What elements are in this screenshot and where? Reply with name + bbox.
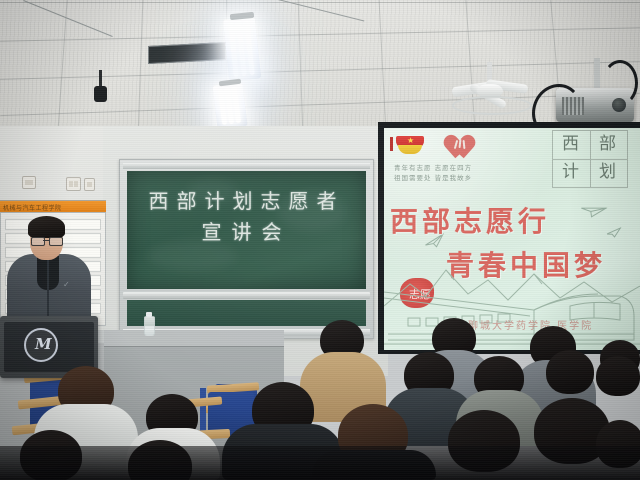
university-crest: M: [24, 328, 58, 362]
calligraphy-seal-box: 西 部 计 划: [552, 130, 628, 188]
blackboard: 西部计划志愿者 宣讲会: [119, 159, 374, 339]
projection-screen-bezel: ★ 青年有志愿 志愿在四方 祖国需要处 皆是我故乡 西 部 计: [378, 122, 640, 354]
screen-slogan-line-2: 祖国需要处 皆是我故乡: [394, 172, 472, 182]
paper-plane-icon: [579, 201, 608, 221]
screen-title-line-1: 西部志愿行: [390, 200, 550, 240]
blackboard-line-2: 宣讲会: [127, 216, 366, 245]
speaker-hair: [28, 216, 65, 238]
power-socket[interactable]: [66, 177, 81, 191]
eyeglasses: [31, 237, 61, 244]
foreground-audience-silhouette: [0, 446, 640, 480]
volunteer-heart-hands-logo: [446, 132, 476, 158]
power-socket[interactable]: [22, 176, 36, 189]
blackboard-surface: 西部计划志愿者 宣讲会: [127, 171, 366, 289]
department-banner-text: 机械与汽车工程学院: [3, 203, 62, 212]
fluorescent-light: [223, 16, 261, 81]
seal-cell-1: 西: [562, 136, 579, 153]
paper-plane-icon: [605, 227, 622, 239]
screen-artwork-scenery: [384, 240, 640, 350]
seal-cell-4: 划: [599, 164, 616, 181]
audience-head: [546, 350, 594, 394]
chalk-tray: [123, 292, 370, 299]
projection-screen: ★ 青年有志愿 志愿在四方 祖国需要处 皆是我故乡 西 部 计: [384, 128, 640, 350]
water-bottle[interactable]: [144, 316, 155, 336]
blackboard-top-rail: [123, 163, 370, 169]
classroom-lecture-photo: 机械与汽车工程学院 西部计划志愿者 宣讲会: [0, 0, 640, 480]
audience-head: [596, 356, 640, 396]
seal-cell-2: 部: [599, 136, 616, 153]
blackboard-line-1: 西部计划志愿者: [127, 185, 366, 214]
screen-footer-organizations: 聊城大学药学院 医学院: [468, 317, 593, 332]
projector-cable: [602, 60, 638, 106]
seal-cell-3: 计: [562, 164, 579, 181]
power-socket[interactable]: [84, 178, 95, 191]
jacket-logo: ✓: [63, 280, 70, 289]
screen-slogan-line-1: 青年有志愿 志愿在四方: [394, 162, 472, 172]
communist-youth-league-emblem: ★: [396, 134, 424, 154]
projector-mount: [594, 58, 600, 88]
water-bottle-cap: [146, 312, 152, 317]
ceiling-fan-ring: [452, 96, 532, 115]
fluorescent-light: [212, 82, 247, 129]
